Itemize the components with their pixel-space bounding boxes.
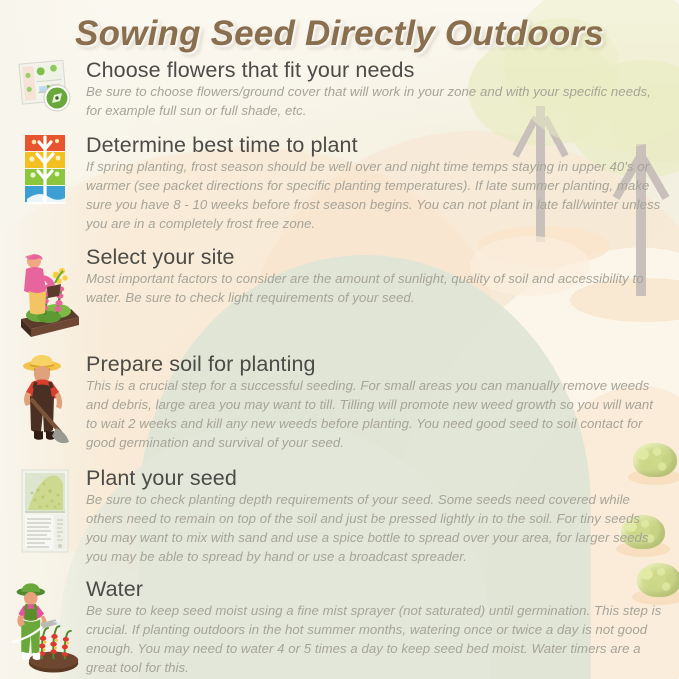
step-heading: Select your site xyxy=(86,245,663,269)
garden-plan-compass-icon xyxy=(15,58,75,116)
step-item-determine-time: Determine best time to plant If spring p… xyxy=(0,133,679,234)
step-body: Choose flowers that fit your needs Be su… xyxy=(82,58,667,121)
step-item-plant-seed: Plant your seed Be sure to check plantin… xyxy=(0,466,679,567)
step-heading: Determine best time to plant xyxy=(86,133,663,157)
step-icon-container xyxy=(8,466,82,558)
step-paragraph: This is a crucial step for a successful … xyxy=(86,377,663,453)
page-title: Sowing Seed Directly Outdoors xyxy=(0,14,679,54)
step-icon-container xyxy=(8,58,82,116)
infographic-poster: Sowing Seed Directly Outdoors xyxy=(0,0,679,679)
gardener-with-shovel-icon xyxy=(12,352,78,456)
step-body: Water Be sure to keep seed moist using a… xyxy=(82,577,667,678)
step-paragraph: Be sure to keep seed moist using a fine … xyxy=(86,602,663,678)
gardener-with-flower-planter-icon xyxy=(9,245,81,341)
step-heading: Prepare soil for planting xyxy=(86,352,663,376)
four-seasons-icon xyxy=(19,133,71,209)
gardener-watering-icon xyxy=(8,577,82,677)
step-body: Plant your seed Be sure to check plantin… xyxy=(82,466,667,567)
step-item-select-site: Select your site Most important factors … xyxy=(0,245,679,341)
step-icon-container xyxy=(8,577,82,677)
step-body: Select your site Most important factors … xyxy=(82,245,667,308)
step-paragraph: If spring planting, frost season should … xyxy=(86,158,663,234)
step-item-water: Water Be sure to keep seed moist using a… xyxy=(0,577,679,678)
step-heading: Choose flowers that fit your needs xyxy=(86,58,663,82)
step-body: Determine best time to plant If spring p… xyxy=(82,133,667,234)
step-heading: Plant your seed xyxy=(86,466,663,490)
step-body: Prepare soil for planting This is a cruc… xyxy=(82,352,667,453)
step-paragraph: Be sure to check planting depth requirem… xyxy=(86,491,663,567)
step-icon-container xyxy=(8,245,82,341)
step-item-prepare-soil: Prepare soil for planting This is a cruc… xyxy=(0,352,679,456)
seed-packet-icon xyxy=(14,466,76,558)
steps-list: Choose flowers that fit your needs Be su… xyxy=(0,58,679,678)
step-icon-container xyxy=(8,133,82,209)
step-item-choose-flowers: Choose flowers that fit your needs Be su… xyxy=(0,58,679,121)
step-icon-container xyxy=(8,352,82,456)
step-heading: Water xyxy=(86,577,663,601)
step-paragraph: Most important factors to consider are t… xyxy=(86,270,663,308)
step-paragraph: Be sure to choose flowers/ground cover t… xyxy=(86,83,663,121)
